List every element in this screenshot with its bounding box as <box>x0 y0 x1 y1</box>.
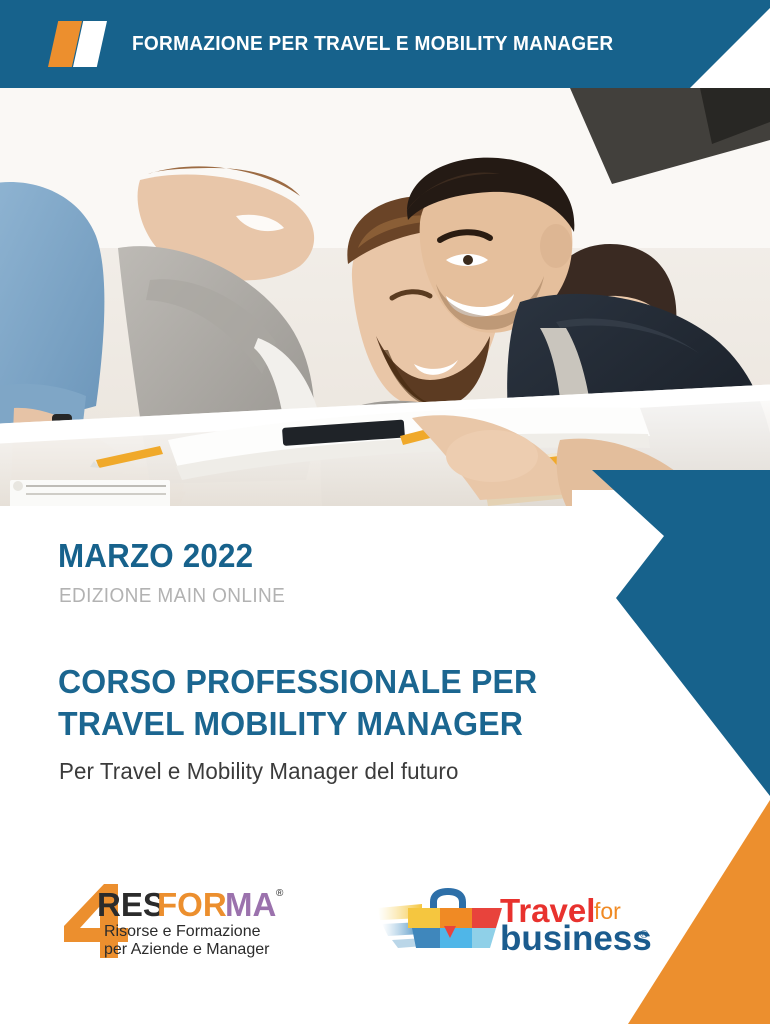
edition-subtitle: EDIZIONE MAIN ONLINE <box>59 585 285 608</box>
hero-photo <box>0 88 770 506</box>
course-title-line-1: CORSO PROFESSIONALE PER <box>58 661 601 703</box>
resforma-logo: RES FOR MA ® Risorse e Formazione per Az… <box>62 880 297 962</box>
travel-for-business-logo: Travel for business ® <box>378 886 653 958</box>
edition-month: MARZO 2022 <box>58 537 253 575</box>
resforma-word-ma: MA <box>225 886 276 923</box>
page-header: FORMAZIONE PER TRAVEL E MOBILITY MANAGER <box>0 0 770 88</box>
resforma-word-for: FOR <box>157 886 227 923</box>
hero-photo-illustration <box>0 88 770 506</box>
travel-registered-mark: ® <box>640 929 648 941</box>
course-title: CORSO PROFESSIONALE PER TRAVEL MOBILITY … <box>58 661 601 745</box>
business-word: business <box>500 919 652 958</box>
resforma-tagline-1: Risorse e Formazione <box>104 923 261 940</box>
resforma-word-res: RES <box>97 886 165 923</box>
footer-logos: RES FOR MA ® Risorse e Formazione per Az… <box>0 880 770 980</box>
brand-logo-icon <box>48 21 108 67</box>
resforma-tagline-2: per Aziende e Manager <box>104 941 270 958</box>
brochure-cover-page: FORMAZIONE PER TRAVEL E MOBILITY MANAGER… <box>0 0 770 1024</box>
course-subtitle: Per Travel e Mobility Manager del futuro <box>59 758 458 785</box>
resforma-registered-mark: ® <box>276 888 284 899</box>
header-title: FORMAZIONE PER TRAVEL E MOBILITY MANAGER <box>132 32 613 56</box>
course-title-line-2: TRAVEL MOBILITY MANAGER <box>58 703 601 745</box>
